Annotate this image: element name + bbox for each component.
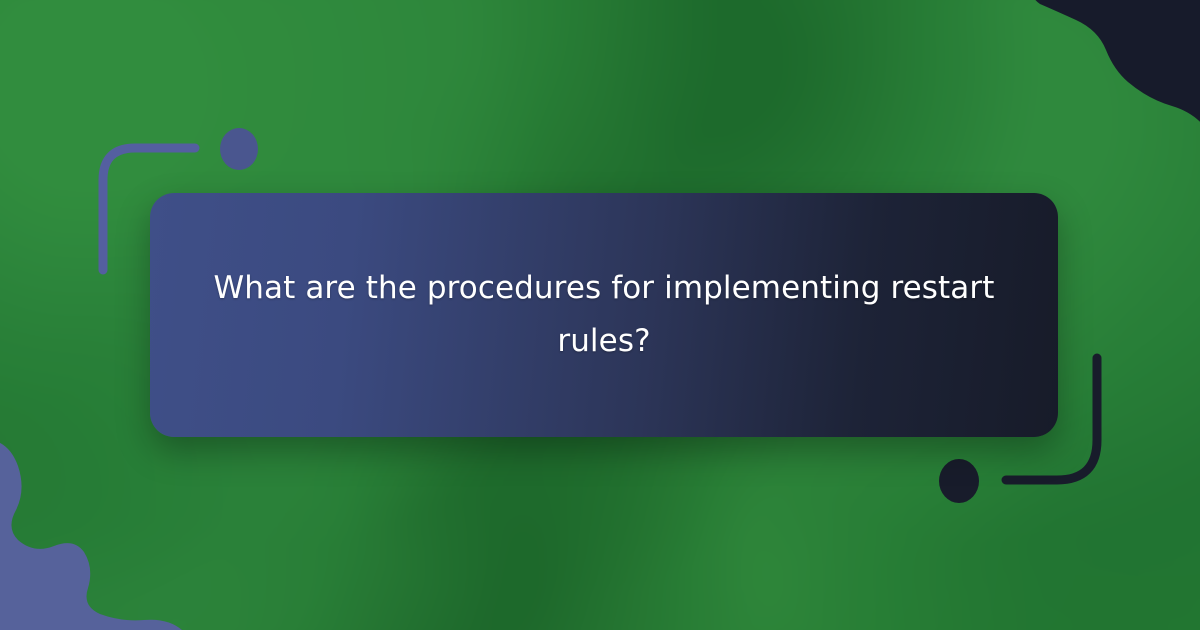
top-right-blob-shape	[996, 0, 1200, 126]
dot-icon	[220, 128, 258, 170]
question-card: What are the procedures for implementing…	[150, 193, 1058, 437]
promo-card-canvas: What are the procedures for implementing…	[0, 0, 1200, 630]
question-text: What are the procedures for implementing…	[206, 262, 1002, 369]
dot-icon	[939, 459, 979, 503]
bottom-left-blob-shape	[0, 424, 204, 630]
